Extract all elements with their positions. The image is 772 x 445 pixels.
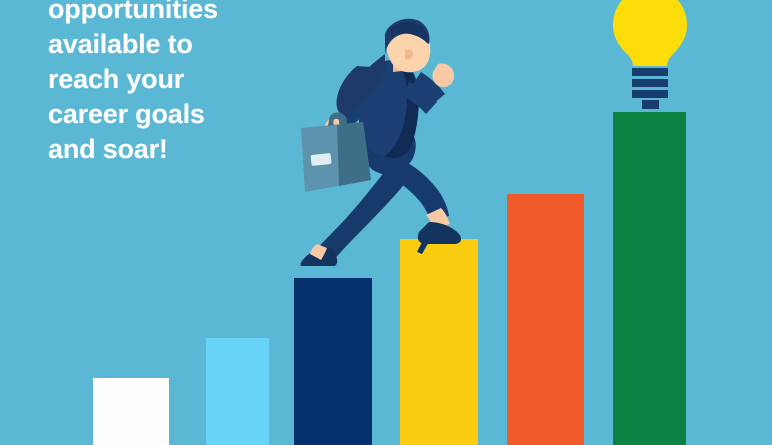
bar-6 [613, 112, 686, 445]
bar-4 [400, 239, 478, 445]
light-bulb-icon [604, 0, 696, 116]
banner-canvas: opportunities available to reach your ca… [0, 0, 772, 445]
bar-5 [507, 194, 584, 445]
headline-text: opportunities available to reach your ca… [48, 0, 348, 167]
bar-3 [294, 278, 372, 445]
bar-1 [93, 378, 169, 445]
bar-2 [206, 338, 269, 445]
